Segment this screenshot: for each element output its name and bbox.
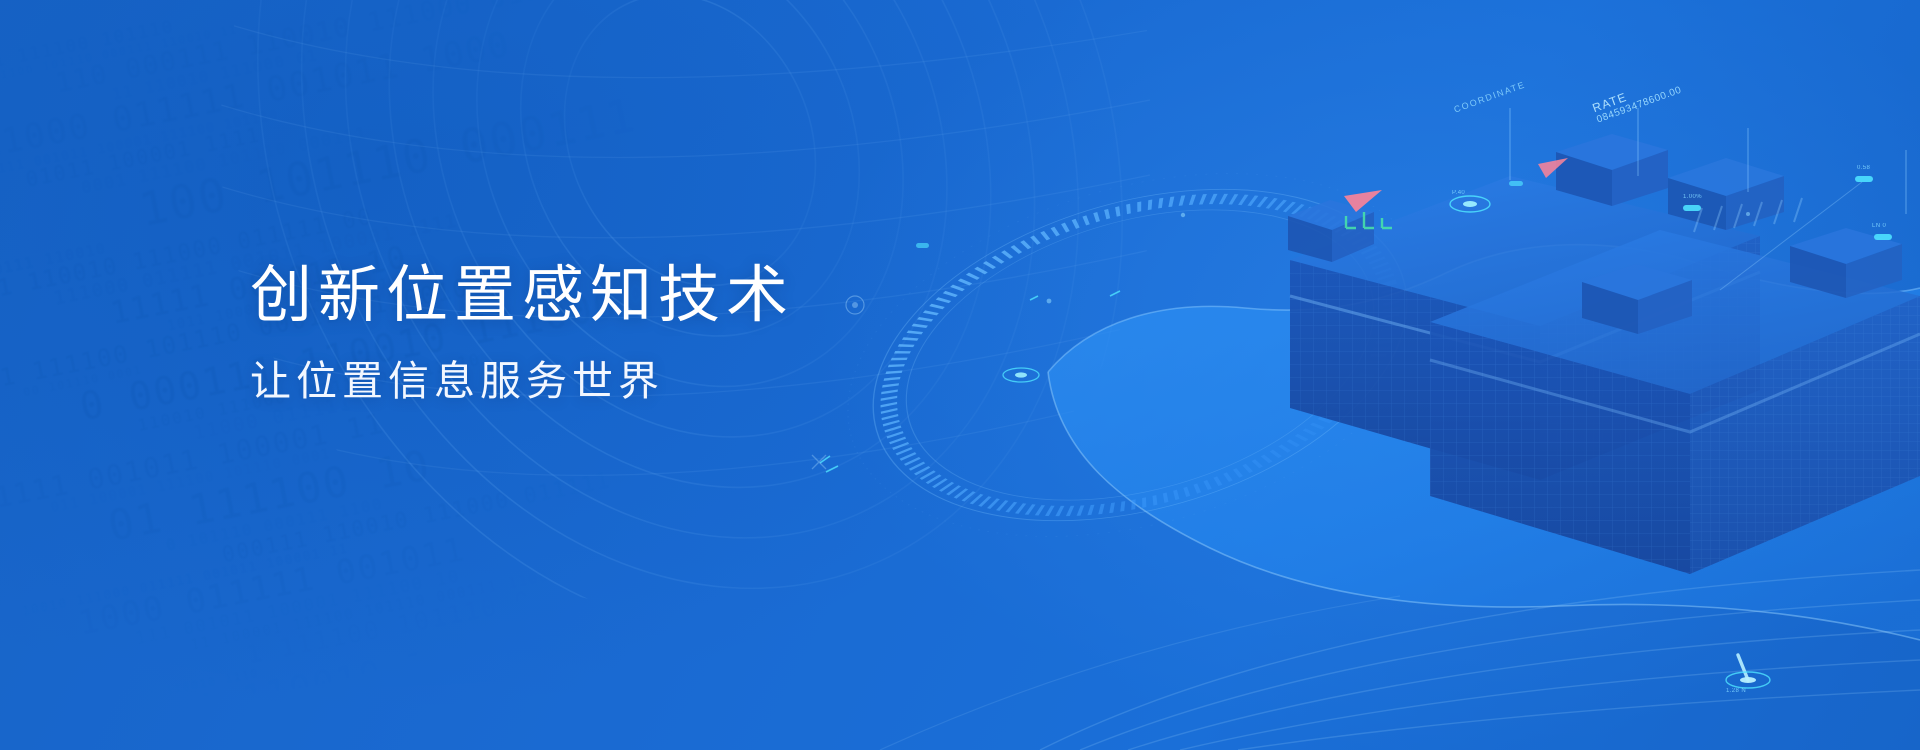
rate-label: RATE 084593478600.00 — [1590, 71, 1683, 125]
page-subtitle: 让位置信息服务世界 — [250, 356, 794, 407]
pill-label-1: 0.58 — [1857, 165, 1870, 171]
page-title: 创新位置感知技术 — [250, 258, 794, 334]
pill-label-2: LN 0 — [1872, 223, 1886, 229]
hero-text-block: 创新位置感知技术 让位置信息服务世界 — [250, 258, 794, 407]
pill-label-3: P.40 — [1452, 190, 1465, 196]
pill-label-4: 1.28 N — [1726, 688, 1746, 694]
coordinate-label: COORDINATE — [1453, 79, 1527, 114]
pill-label-0: 1.00% — [1683, 194, 1702, 200]
hero-banner: 001011 100000001 111100 101110 1100 1011… — [0, 0, 1920, 750]
